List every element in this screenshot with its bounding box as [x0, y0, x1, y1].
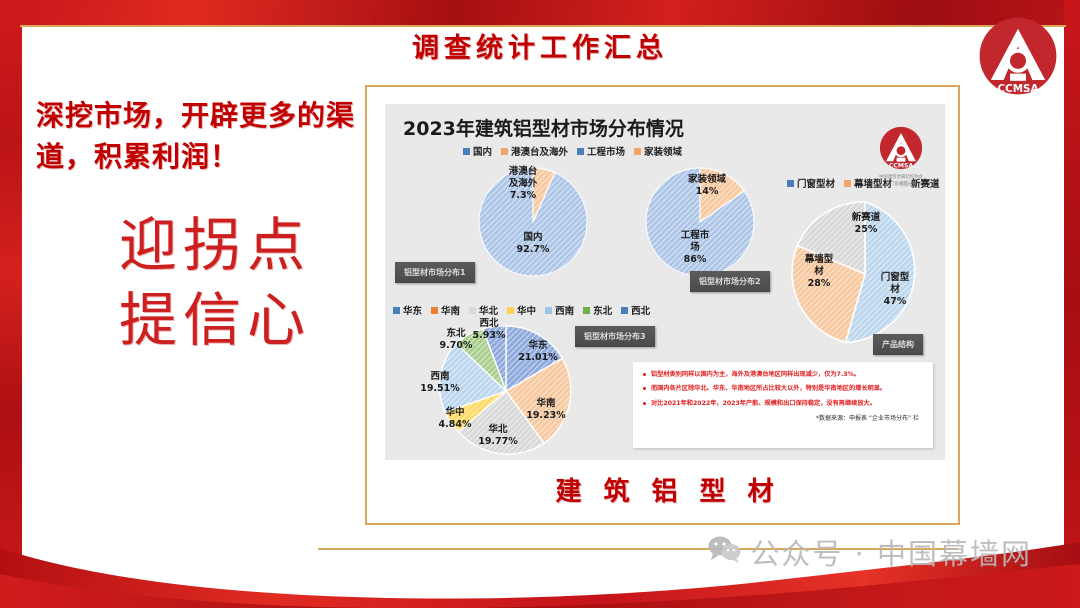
slide-root: 调查统计工作汇总 CCMSA 深挖市场，开辟更多的渠道，积累利润！ 迎拐点 提信…: [0, 0, 1080, 608]
note-item: 而国内各片区除华北、华东、华南地区所占比较大以外，特别是华南地区的增长明显。: [643, 384, 923, 393]
note-item: 铝型材类别同样以国内为主，海外及港澳台地区同样出现减少，仅为7.3%。: [643, 370, 923, 379]
right-red-band: [1064, 0, 1080, 590]
lead-text: 深挖市场，开辟更多的渠道，积累利润！: [36, 96, 366, 177]
legend-label: 华中: [517, 303, 536, 317]
callout-market-distribution-1: 铝型材市场分布1: [395, 262, 475, 283]
pie1-slice-label-hk: 港澳台 及海外 7.3%: [493, 166, 553, 202]
legend-swatch-icon: [787, 180, 794, 187]
legend-label: 国内: [473, 144, 492, 158]
pie3-slice-label-huabei: 华北 19.77%: [473, 424, 523, 448]
legend-label: 港澳台及海外: [511, 144, 568, 158]
legend-swatch-icon: [577, 148, 584, 155]
legend-label: 家装领域: [644, 144, 682, 158]
note-text: 而国内各片区除华北、华东、华南地区所占比较大以外，特别是华南地区的增长明显。: [651, 384, 886, 393]
bullet-icon: [643, 402, 646, 405]
pie4-slice-label-newtrack: 新赛道 25%: [840, 212, 892, 236]
legend-swatch-icon: [634, 148, 641, 155]
legend-swatch-icon: [463, 148, 470, 155]
left-red-band: [0, 0, 22, 570]
slogan-line-1: 迎拐点: [60, 208, 370, 283]
legend-label: 门窗型材: [797, 176, 835, 190]
legend-item: 工程市场: [577, 144, 625, 158]
legend-regions: 华东 华南 华北 华中 西南 东北 西北: [393, 303, 650, 317]
top-red-band: [0, 0, 1080, 26]
wechat-icon: [708, 535, 742, 570]
bullet-icon: [643, 387, 646, 390]
legend-swatch-icon: [583, 307, 590, 314]
legend-item: 华东: [393, 303, 422, 317]
pie2-slice-label-project: 工程市 场 86%: [665, 230, 725, 266]
inner-logo-caption-2: 铝门窗幕墙分会: [873, 182, 929, 188]
pie3-slice-label-huadong: 华东 21.01%: [513, 340, 563, 364]
chart-caption: 建筑铝型材: [367, 471, 962, 508]
inner-logo-caption-1: 中国建筑金属结构协会: [873, 175, 929, 181]
inner-logo-text: CCMSA: [889, 162, 914, 169]
pie3-slice-label-huanan: 华南 19.23%: [521, 398, 571, 422]
legend-label: 工程市场: [587, 144, 625, 158]
page-title: 调查统计工作汇总: [0, 26, 1080, 65]
chart-title: 2023年建筑铝型材市场分布情况: [403, 114, 684, 141]
legend-item: 华中: [507, 303, 536, 317]
ccmsa-logo-text: CCMSA: [997, 83, 1038, 95]
legend-item: 东北: [583, 303, 612, 317]
legend-swatch-icon: [621, 307, 628, 314]
inner-ccmsa-logo-icon: CCMSA 中国建筑金属结构协会 铝门窗幕墙分会: [873, 126, 929, 182]
legend-item: 国内: [463, 144, 492, 158]
notes-box: 铝型材类别同样以国内为主，海外及港澳台地区同样出现减少，仅为7.3%。 而国内各…: [633, 362, 933, 448]
legend-label: 西北: [631, 303, 650, 317]
legend-item: 门窗型材: [787, 176, 835, 190]
legend-swatch-icon: [507, 307, 514, 314]
legend-swatch-icon: [501, 148, 508, 155]
legend-item: 西南: [545, 303, 574, 317]
pie3-slice-label-huazhong: 华中 4.84%: [433, 407, 477, 431]
legend-market-distribution: 国内 港澳台及海外 工程市场 家装领域: [463, 144, 682, 158]
pie4-slice-label-doorwindow: 门窗型 材 47%: [873, 272, 917, 308]
bullet-icon: [643, 373, 646, 376]
legend-label: 东北: [593, 303, 612, 317]
legend-swatch-icon: [393, 307, 400, 314]
note-text: 对比2021年和2022年，2023年产能、规模和出口保持稳定，没有再继续放大。: [651, 399, 876, 408]
note-text: 铝型材类别同样以国内为主，海外及港澳台地区同样出现减少，仅为7.3%。: [651, 370, 860, 379]
callout-product-structure: 产品结构: [873, 334, 923, 355]
callout-market-distribution-2: 铝型材市场分布2: [690, 271, 770, 292]
legend-item: 西北: [621, 303, 650, 317]
legend-item: 华南: [431, 303, 460, 317]
watermark: 公众号 · 中国幕墙网: [708, 531, 1032, 573]
pie4-slice-label-curtainwall: 幕墙型 材 28%: [797, 254, 841, 290]
pie2-slice-label-home: 家装领域 14%: [677, 174, 737, 198]
slogan-line-2: 提信心: [60, 283, 370, 358]
note-item: 对比2021年和2022年，2023年产能、规模和出口保持稳定，没有再继续放大。: [643, 399, 923, 408]
legend-swatch-icon: [545, 307, 552, 314]
callout-market-distribution-3: 铝型材市场分布3: [575, 326, 655, 347]
legend-swatch-icon: [844, 180, 851, 187]
legend-label: 华南: [441, 303, 460, 317]
legend-label: 华北: [479, 303, 498, 317]
pie3-slice-label-xinan: 西南 19.51%: [415, 371, 465, 395]
legend-swatch-icon: [469, 307, 476, 314]
note-source: *数据来源：申报表 “企业市场分布” 栏: [643, 413, 923, 422]
chart-frame: 2023年建筑铝型材市场分布情况 国内 港澳台及海外 工程市场 家装领域: [365, 85, 960, 525]
pie3-slice-label-xibei: 西北 5.93%: [467, 318, 511, 342]
legend-item: 华北: [469, 303, 498, 317]
pie1-slice-label-domestic: 国内 92.7%: [503, 232, 563, 256]
legend-label: 西南: [555, 303, 574, 317]
legend-label: 华东: [403, 303, 422, 317]
big-slogan: 迎拐点 提信心: [60, 208, 370, 359]
chart-card: 2023年建筑铝型材市场分布情况 国内 港澳台及海外 工程市场 家装领域: [385, 104, 945, 460]
legend-item: 港澳台及海外: [501, 144, 568, 158]
legend-swatch-icon: [431, 307, 438, 314]
ccmsa-logo-icon: CCMSA: [978, 16, 1058, 96]
legend-item: 家装领域: [634, 144, 682, 158]
watermark-text: 公众号 · 中国幕墙网: [750, 531, 1032, 573]
